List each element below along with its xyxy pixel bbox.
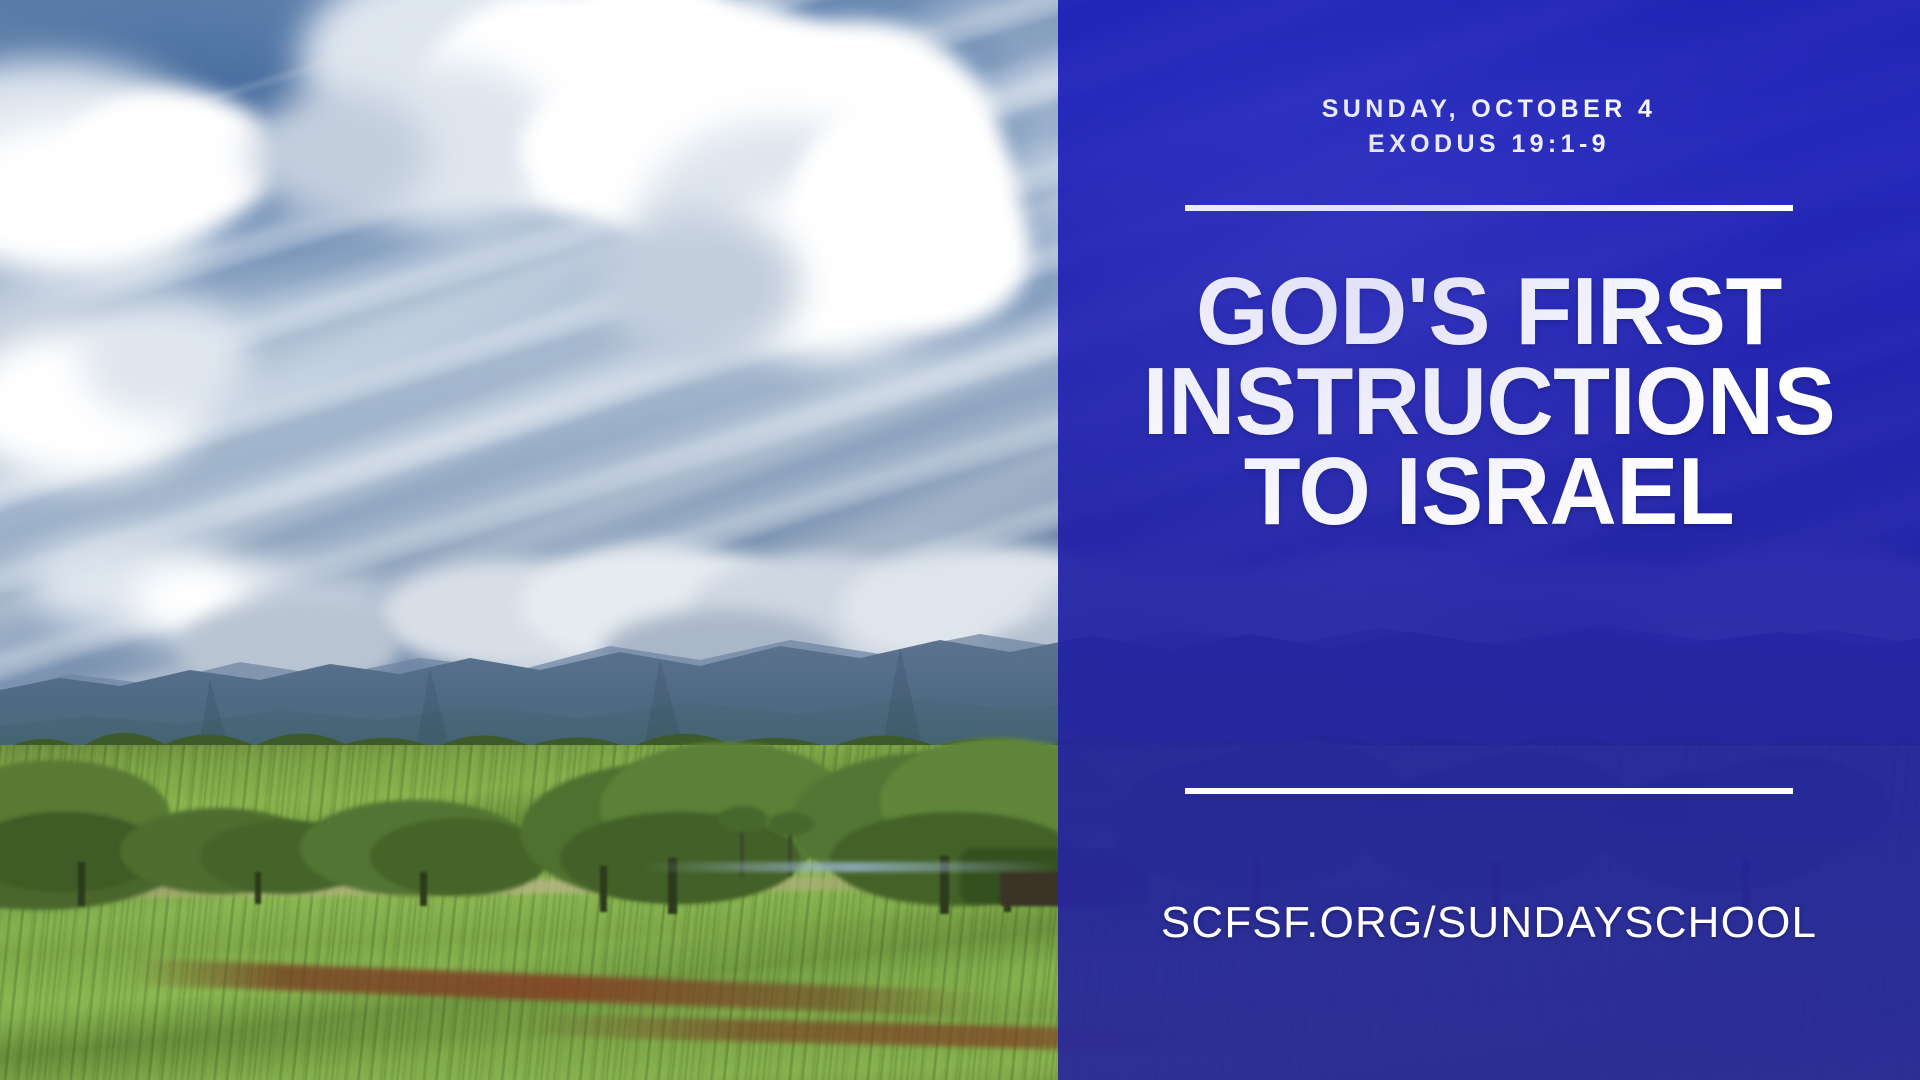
lagoon-water [640, 862, 1060, 872]
tree-trunk [600, 866, 607, 912]
divider-top [1185, 205, 1793, 211]
url-wrap: SCFSF.ORG/SUNDAYSCHOOL [1058, 898, 1920, 948]
website-url[interactable]: SCFSF.ORG/SUNDAYSCHOOL [1161, 898, 1817, 948]
cloud-puff [80, 300, 250, 420]
tree-trunk [420, 872, 427, 906]
title-line-1: GOD'S FIRST [1143, 267, 1836, 357]
eyebrow-block: SUNDAY, OCTOBER 4 EXODUS 19:1-9 [1322, 92, 1657, 161]
cloud-puff [60, 90, 280, 230]
promo-graphic: SUNDAY, OCTOBER 4 EXODUS 19:1-9 GOD'S FI… [0, 0, 1920, 1080]
page-title: GOD'S FIRST INSTRUCTIONS TO ISRAEL [1143, 267, 1836, 538]
cloud-puff [250, 90, 430, 220]
palm-crown [768, 812, 814, 836]
blue-overlay-panel: SUNDAY, OCTOBER 4 EXODUS 19:1-9 GOD'S FI… [1058, 0, 1920, 1080]
title-line-2: INSTRUCTIONS [1143, 357, 1836, 447]
tree-trunk [78, 862, 85, 906]
cloud-puff [600, 210, 800, 360]
divider-bottom [1185, 788, 1793, 794]
cloud-puff [840, 180, 1030, 330]
palm-crown [718, 806, 768, 832]
service-date: SUNDAY, OCTOBER 4 [1322, 92, 1657, 127]
divider-bottom-wrap [1058, 788, 1920, 794]
title-line-3: TO ISRAEL [1143, 447, 1836, 537]
scripture-reference: EXODUS 19:1-9 [1322, 127, 1657, 162]
tree-trunk [255, 872, 261, 904]
